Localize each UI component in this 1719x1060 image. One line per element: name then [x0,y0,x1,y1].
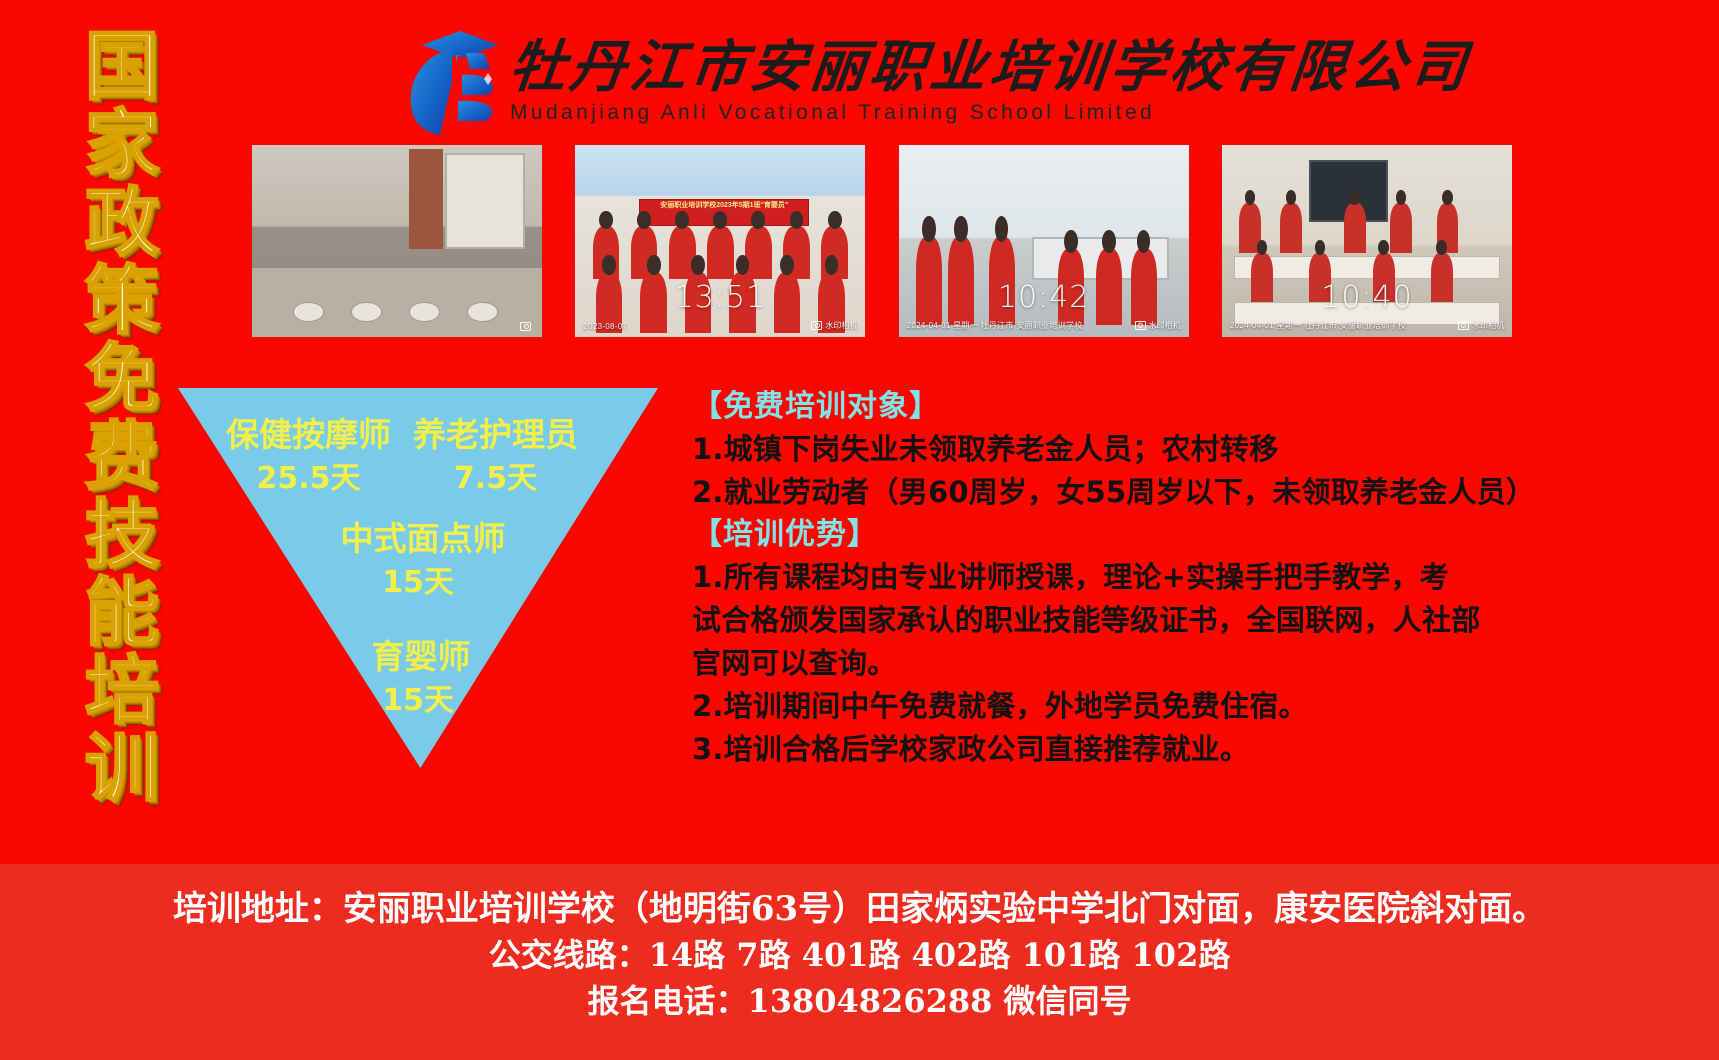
course-item-massage-therapist: 保健按摩师 25.5天 [226,414,391,500]
headline-char: 家 [85,106,159,184]
poster-header: 牡丹江市安丽职业培训学校有限公司 Mudanjiang Anli Vocatio… [400,22,1310,140]
course-days: 15天 [178,680,658,722]
headline-char: 训 [85,730,159,808]
watermark-camera-label: 水印相机 [811,320,857,331]
camera-icon [1458,321,1469,330]
school-name-en: Mudanjiang Anli Vocational Training Scho… [510,100,1470,126]
school-name-block: 牡丹江市安丽职业培训学校有限公司 Mudanjiang Anli Vocatio… [510,36,1470,126]
info-column: 【免费培训对象】 1.城镇下岗失业未领取养老金人员；农村转移 2.就业劳动者（男… [692,386,1522,771]
school-name-cn: 牡丹江市安丽职业培训学校有限公司 [507,36,1474,98]
photo-infant-care-class-group: 安丽职业培训学校2023年5期1班"育婴员" 13:51 2023-08-07 … [575,145,865,337]
footer-phone: 报名电话：13804826288 微信同号 [0,978,1719,1024]
course-triangle: 保健按摩师 25.5天 养老护理员 7.5天 中式面点师 15天 育婴师 15天 [178,388,658,768]
eligibility-heading: 【免费培训对象】 [692,386,1522,428]
photo-clock: 10:40 [1222,280,1512,315]
watermark-camera-label [520,322,534,331]
course-item-chinese-pastry-chef: 中式面点师 15天 [178,518,658,604]
course-name: 养老护理员 [413,414,578,456]
advantage-item: 官网可以查询。 [692,642,1522,685]
advantage-item: 1.所有课程均由专业讲师授课，理论+实操手把手教学，考 [692,556,1522,599]
graduation-cap-logo-icon [400,25,504,137]
camera-icon [520,322,531,331]
photo-pastry-kitchen-classroom [252,145,542,337]
advantage-item: 2.培训期间中午免费就餐，外地学员免费住宿。 [692,685,1522,728]
camera-icon [811,321,822,330]
photo-strip: 安丽职业培训学校2023年5期1班"育婴员" 13:51 2023-08-07 … [252,145,1512,337]
headline-char: 国 [85,28,159,106]
photo-clock: 13:51 [575,280,865,315]
course-item-elderly-caregiver: 养老护理员 7.5天 [413,414,578,500]
photo-timestamp: 2023-08-07 [583,322,627,331]
advantages-heading: 【培训优势】 [692,514,1522,556]
watermark-camera-label: 水印相机 [1135,320,1181,331]
vertical-headline: 国 家 政 策 免 费 技 能 培 训 [70,28,174,748]
headline-char: 费 [85,418,159,496]
footer-contact-band: 培训地址：安丽职业培训学校（地明街63号）田家炳实验中学北门对面，康安医院斜对面… [0,864,1719,1060]
watermark-camera-label: 水印相机 [1458,320,1504,331]
course-name: 中式面点师 [178,518,658,560]
photo-lecture-classroom: 10:40 2024-04-01 星期一 牡丹江市 安丽职业培训学校 水印相机 [1222,145,1512,337]
course-item-infant-caregiver: 育婴师 15天 [178,636,658,722]
headline-char: 政 [85,184,159,262]
headline-char: 技 [85,496,159,574]
photo-elderly-care-practice: 10:42 2024-04-01 星期一 牡丹江市 安丽职业培训学校 水印相机 [899,145,1189,337]
camera-icon [1135,321,1146,330]
eligibility-item: 2.就业劳动者（男60周岁，女55周岁以下，未领取养老金人员） [692,471,1522,514]
course-name: 保健按摩师 [226,414,391,456]
course-days: 25.5天 [226,458,391,500]
footer-bus-routes: 公交线路：14路 7路 401路 402路 101路 102路 [0,932,1719,978]
headline-char: 能 [85,574,159,652]
eligibility-item: 1.城镇下岗失业未领取养老金人员；农村转移 [692,428,1522,471]
photo-timestamp: 2024-04-01 星期一 牡丹江市 安丽职业培训学校 [907,320,1083,331]
headline-char: 策 [85,262,159,340]
headline-char: 培 [85,652,159,730]
course-row-top: 保健按摩师 25.5天 养老护理员 7.5天 [226,414,658,500]
footer-address: 培训地址：安丽职业培训学校（地明街63号）田家炳实验中学北门对面，康安医院斜对面… [0,886,1719,932]
photo-clock: 10:42 [899,280,1189,315]
advantage-item: 3.培训合格后学校家政公司直接推荐就业。 [692,728,1522,771]
poster-canvas: 国 家 政 策 免 费 技 能 培 训 [0,0,1719,1060]
course-days: 7.5天 [413,458,578,500]
course-days: 15天 [178,562,658,604]
headline-char: 免 [85,340,159,418]
course-name: 育婴师 [178,636,658,678]
photo-timestamp: 2024-04-01 星期一 牡丹江市 安丽职业培训学校 [1230,320,1406,331]
advantage-item: 试合格颁发国家承认的职业技能等级证书，全国联网，人社部 [692,599,1522,642]
